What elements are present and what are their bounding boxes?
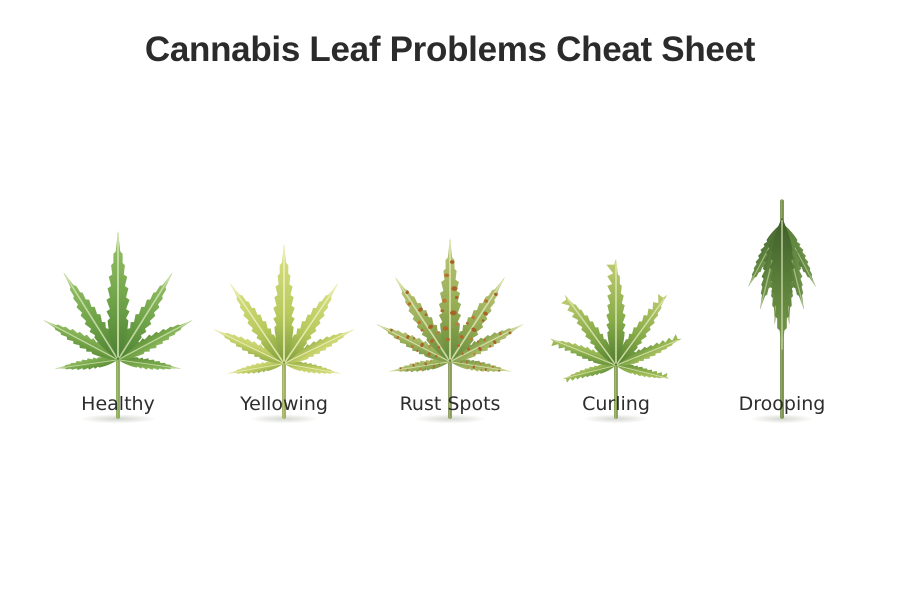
- leaf-label-yellowing: Yellowing: [201, 392, 367, 424]
- page-title: Cannabis Leaf Problems Cheat Sheet: [0, 30, 900, 70]
- leaf-blades: [742, 218, 821, 352]
- leaf-label-curling: Curling: [533, 392, 699, 424]
- cheat-sheet-page: Cannabis Leaf Problems Cheat Sheet: [0, 0, 900, 600]
- leaf-blades: [548, 259, 685, 384]
- leaf-blades: [210, 244, 357, 379]
- leaf-label-rust-spots: Rust Spots: [367, 392, 533, 424]
- leaf-blades: [40, 231, 197, 375]
- leaf-label-drooping: Drooping: [699, 392, 865, 424]
- leaf-label-healthy: Healthy: [35, 392, 201, 424]
- leaf-labels: Healthy Yellowing Rust Spots Curling Dro…: [0, 392, 900, 424]
- leaf-blades: [373, 238, 527, 377]
